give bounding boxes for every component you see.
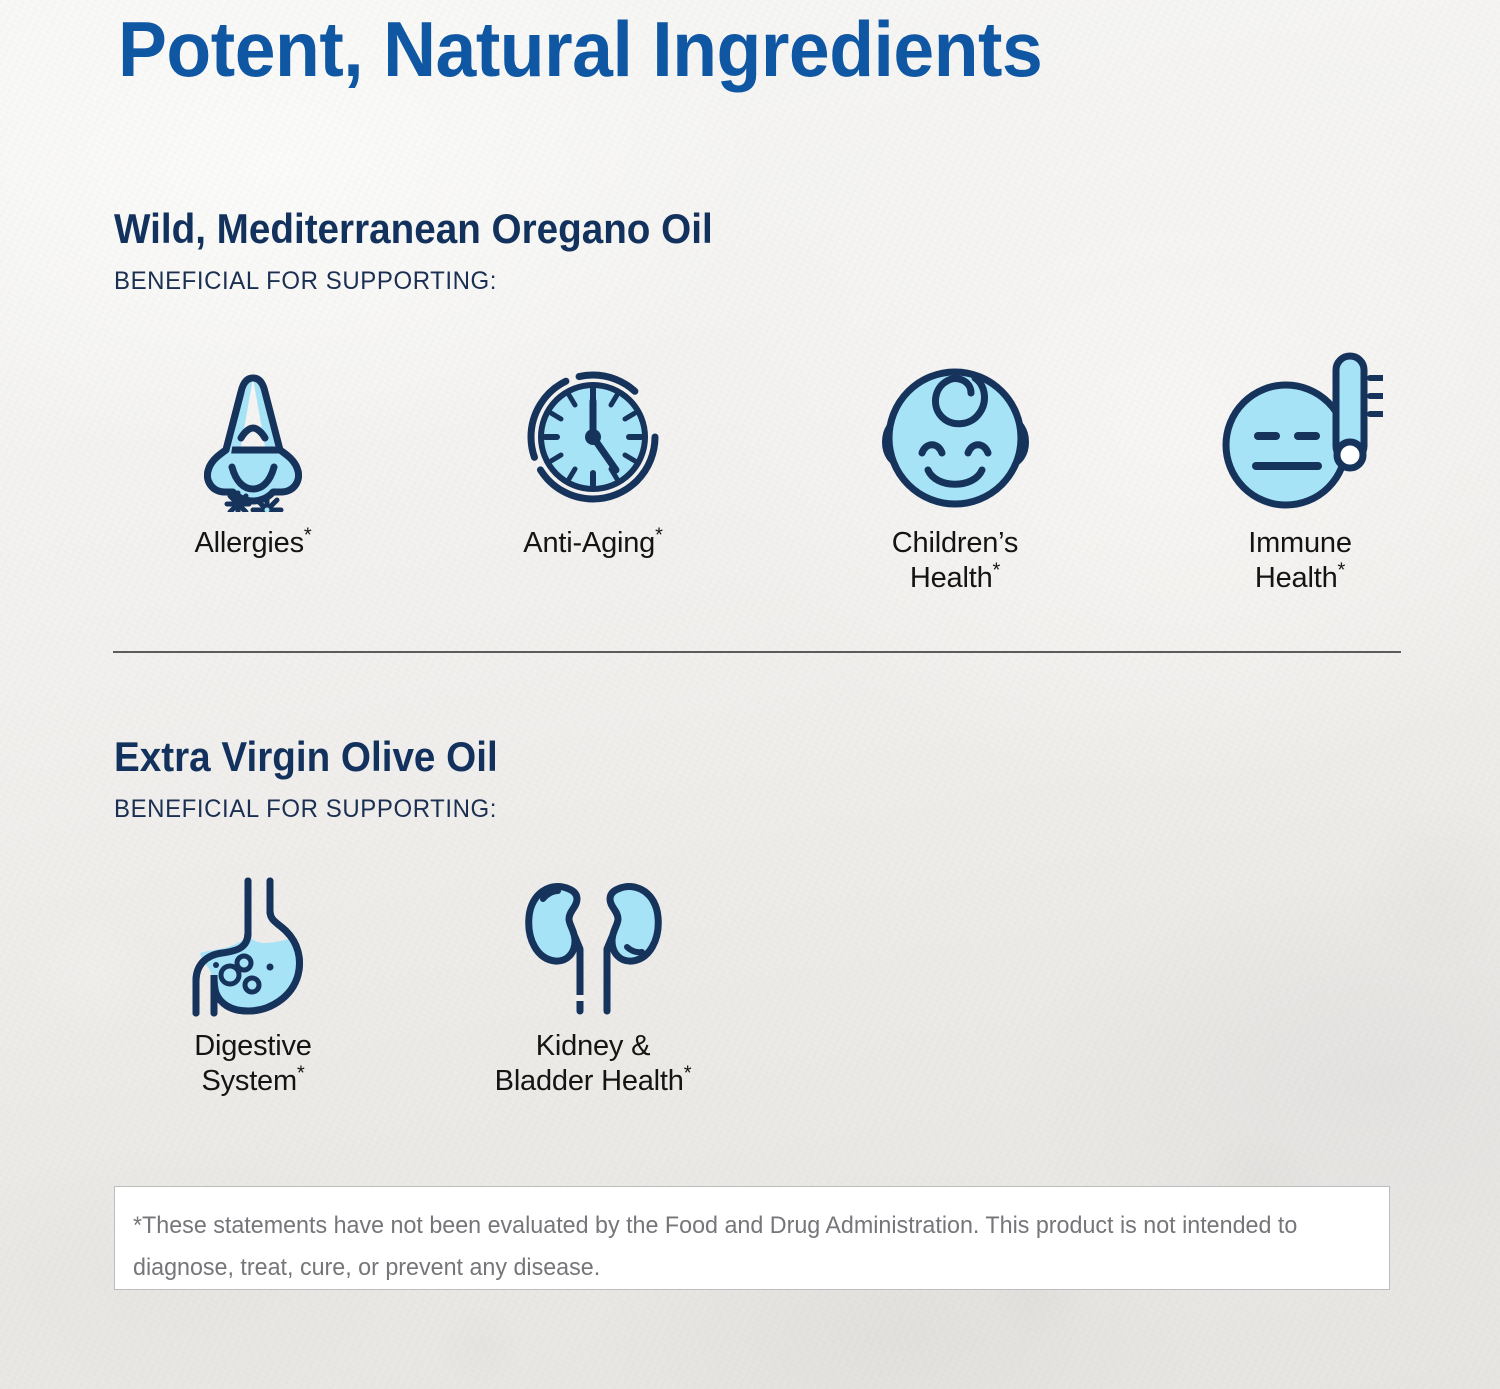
disclaimer-box: *These statements have not been evaluate…: [114, 1186, 1390, 1290]
section-title-oregano: Wild, Mediterranean Oregano Oil: [114, 205, 713, 253]
section-subtitle-olive: BENEFICIAL FOR SUPPORTING:: [114, 795, 514, 823]
benefit-row-oregano: Allergies*: [0, 352, 1400, 612]
nose-allergy-icon: [103, 352, 403, 512]
section-divider: [113, 651, 1401, 653]
section-subtitle-oregano: BENEFICIAL FOR SUPPORTING:: [114, 267, 739, 295]
thermometer-face-icon: [1150, 352, 1450, 512]
stomach-icon: [103, 872, 403, 1017]
benefit-label-line2-wrap: Bladder Health*: [443, 1064, 743, 1099]
benefit-label-line2-wrap: Health*: [805, 561, 1105, 596]
benefit-item-childrens-health: Children’s Health*: [805, 352, 1105, 596]
asterisk-mark: *: [297, 1062, 305, 1084]
benefit-item-allergies: Allergies*: [103, 352, 403, 561]
asterisk-mark: *: [993, 559, 1001, 581]
benefit-item-digestive-system: Digestive System*: [103, 872, 403, 1099]
benefit-label-line1: Kidney &: [443, 1029, 743, 1064]
benefit-label-line1: Immune: [1150, 526, 1450, 561]
benefit-label-line1: Children’s: [805, 526, 1105, 561]
disclaimer-text: *These statements have not been evaluate…: [133, 1205, 1336, 1289]
benefit-label-anti-aging: Anti-Aging*: [443, 526, 743, 561]
benefit-label-line2: Health: [1255, 562, 1338, 594]
section-title-olive: Extra Virgin Olive Oil: [114, 733, 498, 781]
asterisk-mark: *: [684, 1062, 692, 1084]
benefit-label-line2-wrap: System*: [103, 1064, 403, 1099]
benefit-item-anti-aging: Anti-Aging*: [443, 352, 743, 561]
asterisk-mark: *: [1338, 559, 1346, 581]
benefit-label-kidney-bladder-health: Kidney & Bladder Health*: [443, 1029, 743, 1099]
benefit-label-childrens-health: Children’s Health*: [805, 526, 1105, 596]
benefit-label-digestive-system: Digestive System*: [103, 1029, 403, 1099]
kidneys-icon: [443, 872, 743, 1017]
asterisk-mark: *: [304, 524, 312, 546]
benefit-label-allergies: Allergies*: [103, 526, 403, 561]
benefit-row-olive: Digestive System*: [0, 872, 1400, 1132]
benefit-label-line2: Health: [910, 562, 993, 594]
benefit-label-line2-wrap: Health*: [1150, 561, 1450, 596]
infographic-page: Potent, Natural Ingredients Wild, Medite…: [0, 0, 1500, 1389]
benefit-label-line1: Digestive: [103, 1029, 403, 1064]
benefit-label-line1: Anti-Aging: [523, 527, 655, 559]
baby-face-icon: [805, 352, 1105, 512]
benefit-item-immune-health: Immune Health*: [1150, 352, 1450, 596]
benefit-label-line2: Bladder Health: [495, 1065, 684, 1097]
section-olive-oil: Extra Virgin Olive Oil BENEFICIAL FOR SU…: [114, 733, 531, 823]
asterisk-mark: *: [655, 524, 663, 546]
benefit-label-line1: Allergies: [194, 527, 303, 559]
benefit-label-immune-health: Immune Health*: [1150, 526, 1450, 596]
benefit-label-line2: System: [201, 1065, 297, 1097]
benefit-item-kidney-bladder-health: Kidney & Bladder Health*: [443, 872, 743, 1099]
page-title: Potent, Natural Ingredients: [118, 2, 1042, 96]
clock-icon: [443, 352, 743, 512]
section-oregano-oil: Wild, Mediterranean Oregano Oil BENEFICI…: [114, 205, 765, 295]
